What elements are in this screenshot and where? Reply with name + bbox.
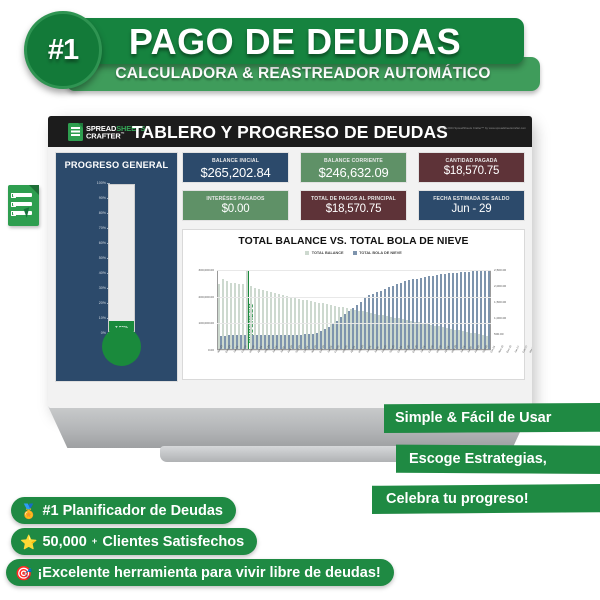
legend-label: TOTAL BOLA DE NIEVE <box>359 251 402 255</box>
chart-y-tick-left: 0.00 <box>208 348 214 352</box>
legend-swatch <box>305 251 309 255</box>
rank-badge-label: #1 <box>48 34 78 67</box>
kpi-label: TOTAL DE PAGOS AL PRINCIPAL <box>301 196 406 202</box>
header-title-banner: PAGO DE DEUDAS <box>66 18 524 64</box>
thermometer-axis: 100%90%80%70%60%50%40%30%20%10%0% <box>70 183 106 333</box>
ribbon-label: Escoge Estrategias, <box>409 451 547 467</box>
feature-pill-herramienta: 🎯 ¡Excelente herramienta para vivir libr… <box>6 559 394 586</box>
monitor-bezel: SPREADSHEETS CRAFTER™ TABLERO Y PROGRESO… <box>48 116 532 408</box>
chart-gridline <box>217 297 491 298</box>
progress-panel-title: PROGRESO GENERAL <box>56 153 177 174</box>
chart-y-tick-left: 300,000.00 <box>199 268 214 272</box>
chart-bar-group <box>486 270 490 349</box>
ribbon-celebra-progreso: Celebra tu progreso! <box>372 484 600 514</box>
thermometer-tick: 50% <box>70 256 106 260</box>
star-icon: ⭐ <box>20 535 37 549</box>
kpi-label: BALANCE INICIAL <box>183 158 288 164</box>
poster-canvas: CALCULADORA & REASTREADOR AUTOMÁTICO PAG… <box>0 0 600 600</box>
chart-y-tick-right: 1,500.00 <box>494 300 506 304</box>
kpi-value: $18,570.75 <box>301 203 406 215</box>
thermometer-tick: 20% <box>70 301 106 305</box>
chart-plot-area: PROGRESO 300,000.00200,000.00100,000.000… <box>217 270 491 350</box>
kpi-label: FECHA ESTIMADA DE SALDO <box>419 196 524 202</box>
kpi-card: TOTAL DE PAGOS AL PRINCIPAL$18,570.75 <box>300 190 407 221</box>
thermometer-tick: 10% <box>70 316 106 320</box>
thermometer-tick: 100% <box>70 181 106 185</box>
thermometer-tube: 7.00% <box>108 184 135 332</box>
thermometer-tick: 60% <box>70 241 106 245</box>
chart-legend: TOTAL BALANCETOTAL BOLA DE NIEVE <box>183 251 524 255</box>
legend-label: TOTAL BALANCE <box>312 251 344 255</box>
monitor-stand-foot <box>160 446 420 462</box>
ribbon-label: Simple & Fácil de Usar <box>395 410 551 426</box>
dashboard-header-bar: SPREADSHEETS CRAFTER™ TABLERO Y PROGRESO… <box>48 116 532 147</box>
kpi-card: BALANCE INICIAL$265,202.84 <box>182 152 289 183</box>
chart-bar-bola-nieve <box>488 270 490 349</box>
rank-badge: #1 <box>24 11 102 89</box>
monitor-screen: SPREADSHEETS CRAFTER™ TABLERO Y PROGRESO… <box>48 116 532 408</box>
thermometer-tick: 70% <box>70 226 106 230</box>
chart-legend-item: TOTAL BALANCE <box>305 251 343 255</box>
kpi-label: CANTIDAD PAGADA <box>419 158 524 164</box>
feature-pill-label: Clientes Satisfechos <box>102 534 244 550</box>
kpi-value: $18,570.75 <box>419 165 524 177</box>
kpi-label: BALANCE CORRIENTE <box>301 158 406 164</box>
chart-y-tick-right: 2,500.00 <box>494 268 506 272</box>
chart-y-tick-left: 200,000.00 <box>199 295 214 299</box>
kpi-label: INTERÉSES PAGADOS <box>183 196 288 202</box>
feature-pill-label: #1 Planificador de Deudas <box>42 503 223 519</box>
ribbon-simple-facil: Simple & Fácil de Usar <box>384 403 600 433</box>
chart-gridline <box>217 270 491 271</box>
feature-pill-clientes: ⭐ 50,000+ Clientes Satisfechos <box>11 528 257 555</box>
kpi-value: Jun - 29 <box>419 203 524 215</box>
chart-y-tick-right: 1,000.00 <box>494 316 506 320</box>
chart-y-tick-right: 2,000.00 <box>494 284 506 288</box>
kpi-card-grid: BALANCE INICIAL$265,202.84BALANCE CORRIE… <box>182 152 525 224</box>
target-icon: 🎯 <box>15 566 32 580</box>
thermometer-tick: 30% <box>70 286 106 290</box>
kpi-card: BALANCE CORRIENTE$246,632.09 <box>300 152 407 183</box>
ribbon-escoge-estrategias: Escoge Estrategias, <box>396 444 600 474</box>
feature-pill-label: ¡Excelente herramienta para vivir libre … <box>37 565 380 581</box>
kpi-value: $265,202.84 <box>183 165 288 180</box>
kpi-value: $246,632.09 <box>301 165 406 180</box>
thermometer-bulb <box>102 327 141 366</box>
feature-pill-plus: + <box>92 536 98 547</box>
header-subtitle: CALCULADORA & REASTREADOR AUTOMÁTICO <box>66 65 540 83</box>
chart-panel: TOTAL BALANCE VS. TOTAL BOLA DE NIEVE TO… <box>182 229 525 380</box>
chart-bars: PROGRESO <box>218 270 490 349</box>
chart-title: TOTAL BALANCE VS. TOTAL BOLA DE NIEVE <box>183 236 524 247</box>
dashboard-body: PROGRESO GENERAL 100%90%80%70%60%50%40%3… <box>48 147 532 408</box>
header-title: PAGO DE DEUDAS <box>66 21 524 63</box>
progress-panel: PROGRESO GENERAL 100%90%80%70%60%50%40%3… <box>55 152 178 382</box>
kpi-value: $0.00 <box>183 203 288 215</box>
copyright-notice: © 2019-2024 SpreadSheets Crafter™ by www… <box>437 126 526 130</box>
thermometer-tick: 40% <box>70 271 106 275</box>
file-icon-body <box>8 185 39 226</box>
kpi-card: CANTIDAD PAGADA$18,570.75 <box>418 152 525 183</box>
thermometer-tick: 80% <box>70 211 106 215</box>
thermometer-tick: 0% <box>70 331 106 335</box>
ribbon-label: Celebra tu progreso! <box>386 491 529 507</box>
chart-y-tick-left: 100,000.00 <box>199 321 214 325</box>
medal-icon: 🏅 <box>20 504 37 518</box>
spreadsheet-file-icon <box>8 185 41 228</box>
thermometer-tick: 90% <box>70 196 106 200</box>
chart-gridline <box>217 323 491 324</box>
feature-pill-count: 50,000 <box>42 534 86 550</box>
legend-swatch <box>353 251 357 255</box>
chart-legend-item: TOTAL BOLA DE NIEVE <box>353 251 402 255</box>
kpi-card: INTERÉSES PAGADOS$0.00 <box>182 190 289 221</box>
chart-y-axis-right <box>490 270 491 350</box>
feature-pill-planificador: 🏅 #1 Planificador de Deudas <box>11 497 236 524</box>
chart-x-tick-labels: Nov-23Dec-23Jan-24Feb-24Mar-24Apr-24May-… <box>217 352 491 368</box>
chart-y-tick-right: 500.00 <box>494 332 503 336</box>
thermometer-gauge: 100%90%80%70%60%50%40%30%20%10%0% 7.00% <box>56 179 177 379</box>
kpi-card: FECHA ESTIMADA DE SALDOJun - 29 <box>418 190 525 221</box>
